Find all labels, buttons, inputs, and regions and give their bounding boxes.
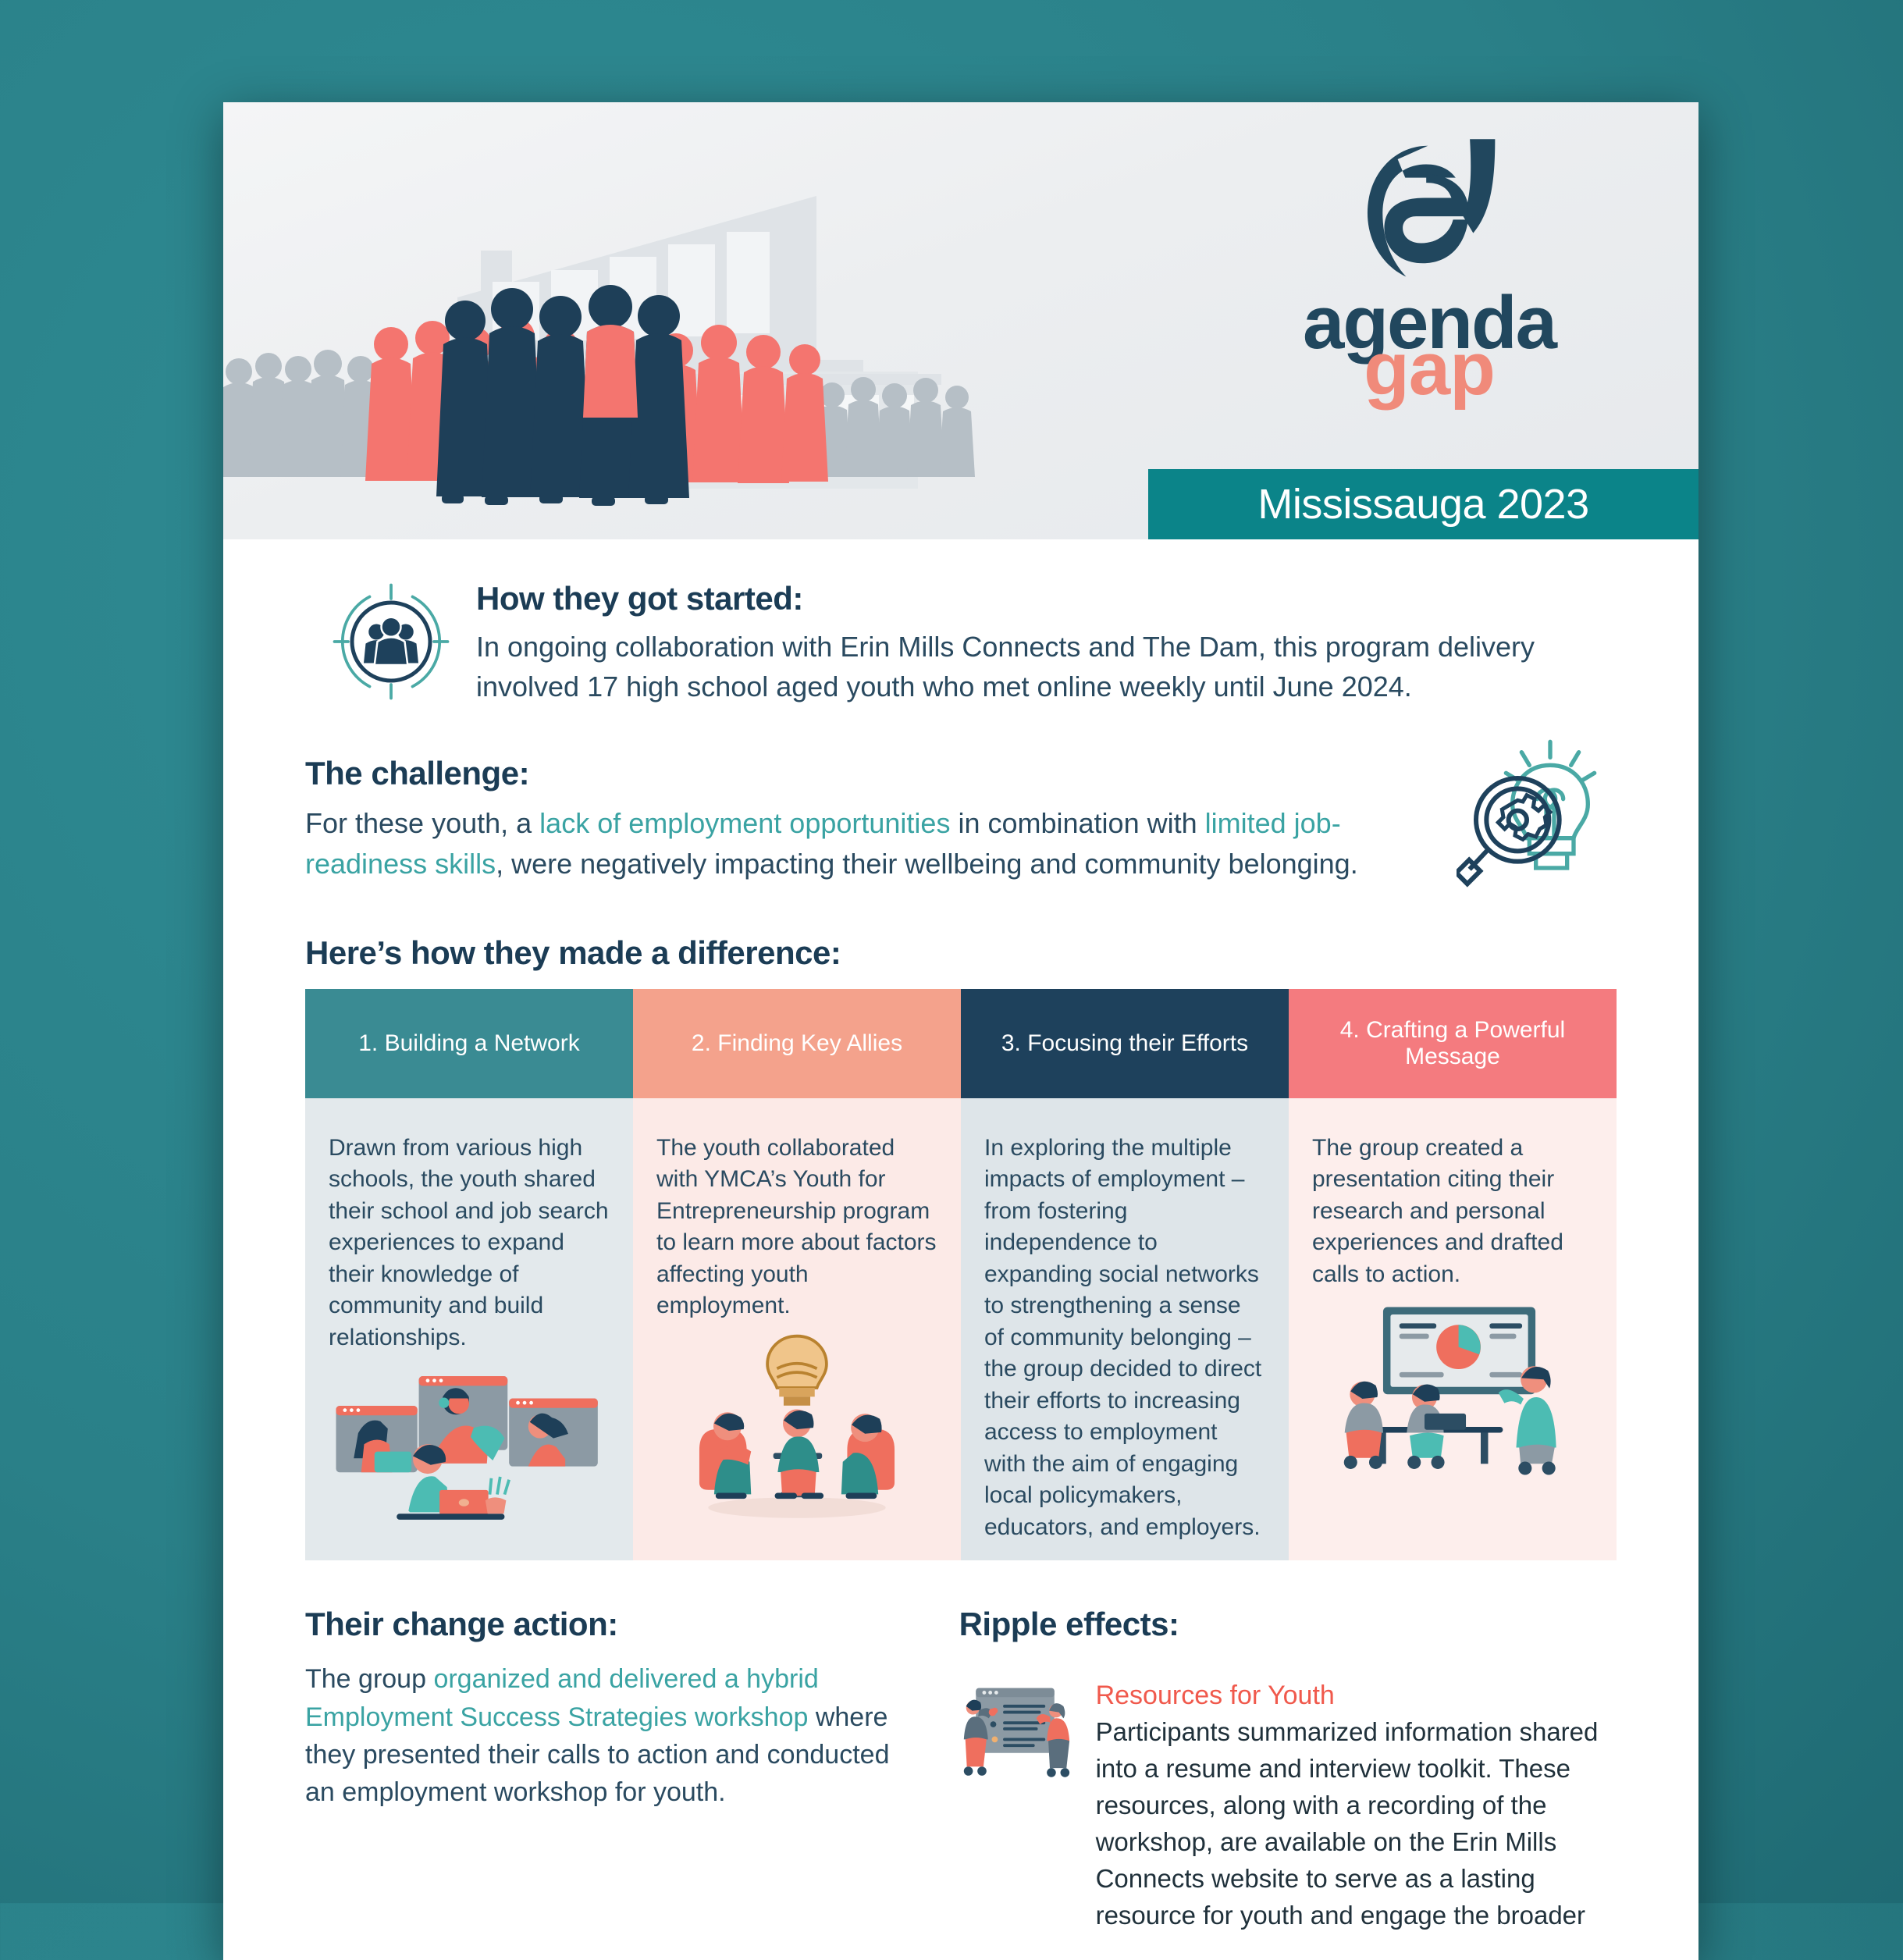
column-1-header: 1. Building a Network (305, 989, 633, 1098)
agenda-gap-logo: agenda gap (1265, 126, 1593, 404)
document-page: agenda gap Mississauga 2023 (223, 102, 1698, 1960)
change-action-body: The group organized and delivered a hybr… (305, 1660, 912, 1811)
difference-column-1: 1. Building a Network Drawn from various… (305, 989, 633, 1561)
how-they-got-started-section: How they got started: In ongoing collabo… (305, 580, 1617, 706)
column-3-title: 3. Focusing their Efforts (1001, 1030, 1248, 1057)
challenge-text-2: in combination with (950, 807, 1204, 839)
started-heading: How they got started: (476, 580, 1617, 617)
challenge-text-3: , were negatively impacting their wellbe… (496, 848, 1358, 880)
challenge-text-1: For these youth, a (305, 807, 539, 839)
made-a-difference-section: Here’s how they made a difference: 1. Bu… (305, 934, 1617, 1561)
ripple-heading: Ripple effects: (959, 1606, 1617, 1643)
column-1-body: Drawn from various high schools, the you… (305, 1098, 633, 1561)
change-action-section: Their change action: The group organized… (305, 1606, 912, 1933)
difference-column-4: 4. Crafting a Powerful Message The group… (1289, 989, 1617, 1561)
column-3-body: In exploring the multiple impacts of emp… (961, 1098, 1289, 1561)
column-4-body: The group created a presentation citing … (1289, 1098, 1617, 1561)
difference-heading: Here’s how they made a difference: (305, 934, 1617, 972)
challenge-highlight-1: lack of employment opportunities (539, 807, 950, 839)
bottom-sections: Their change action: The group organized… (305, 1606, 1617, 1933)
community-target-icon (333, 583, 450, 700)
idea-meeting-illustration (656, 1332, 937, 1524)
difference-column-3: 3. Focusing their Efforts In exploring t… (961, 989, 1289, 1561)
challenge-heading: The challenge: (305, 755, 1617, 792)
column-4-title: 4. Crafting a Powerful Message (1300, 1017, 1606, 1069)
challenge-body: For these youth, a lack of employment op… (305, 803, 1382, 884)
ripple-effects-section: Ripple effects: (959, 1606, 1617, 1933)
difference-columns: 1. Building a Network Drawn from various… (305, 989, 1617, 1561)
started-body: In ongoing collaboration with Erin Mills… (476, 627, 1617, 706)
column-1-title: 1. Building a Network (358, 1030, 579, 1057)
column-2-title: 2. Finding Key Allies (692, 1030, 902, 1057)
resources-board-illustration (959, 1681, 1072, 1794)
column-3-text: In exploring the multiple impacts of emp… (984, 1135, 1261, 1540)
youth-crowd-illustration (223, 235, 1027, 516)
change-action-cutoff-text (305, 1828, 912, 1866)
column-2-body: The youth collaborated with YMCA’s Youth… (633, 1098, 961, 1561)
difference-column-2: 2. Finding Key Allies The youth collabor… (633, 989, 961, 1561)
challenge-section: The challenge: For these youth, a lack o… (305, 755, 1617, 884)
hero-banner: agenda gap Mississauga 2023 (223, 102, 1698, 539)
change-action-text-1: The group (305, 1664, 433, 1694)
ripple-item-title: Resources for Youth (1096, 1681, 1617, 1711)
city-year-badge: Mississauga 2023 (1148, 469, 1698, 539)
ripple-item: Resources for Youth Participants summari… (959, 1681, 1617, 1933)
column-4-header: 4. Crafting a Powerful Message (1289, 989, 1617, 1098)
agenda-gap-logo-mark (1346, 126, 1514, 293)
column-3-header: 3. Focusing their Efforts (961, 989, 1289, 1098)
column-1-text: Drawn from various high schools, the you… (329, 1135, 609, 1350)
video-call-illustration (329, 1363, 610, 1525)
column-2-header: 2. Finding Key Allies (633, 989, 961, 1098)
column-4-text: The group created a presentation citing … (1312, 1135, 1563, 1287)
column-2-text: The youth collaborated with YMCA’s Youth… (656, 1135, 937, 1319)
ripple-item-body: Participants summarized information shar… (1096, 1714, 1617, 1933)
change-action-heading: Their change action: (305, 1606, 912, 1643)
presentation-illustration (1312, 1300, 1593, 1477)
lightbulb-magnifier-icon (1457, 731, 1613, 888)
